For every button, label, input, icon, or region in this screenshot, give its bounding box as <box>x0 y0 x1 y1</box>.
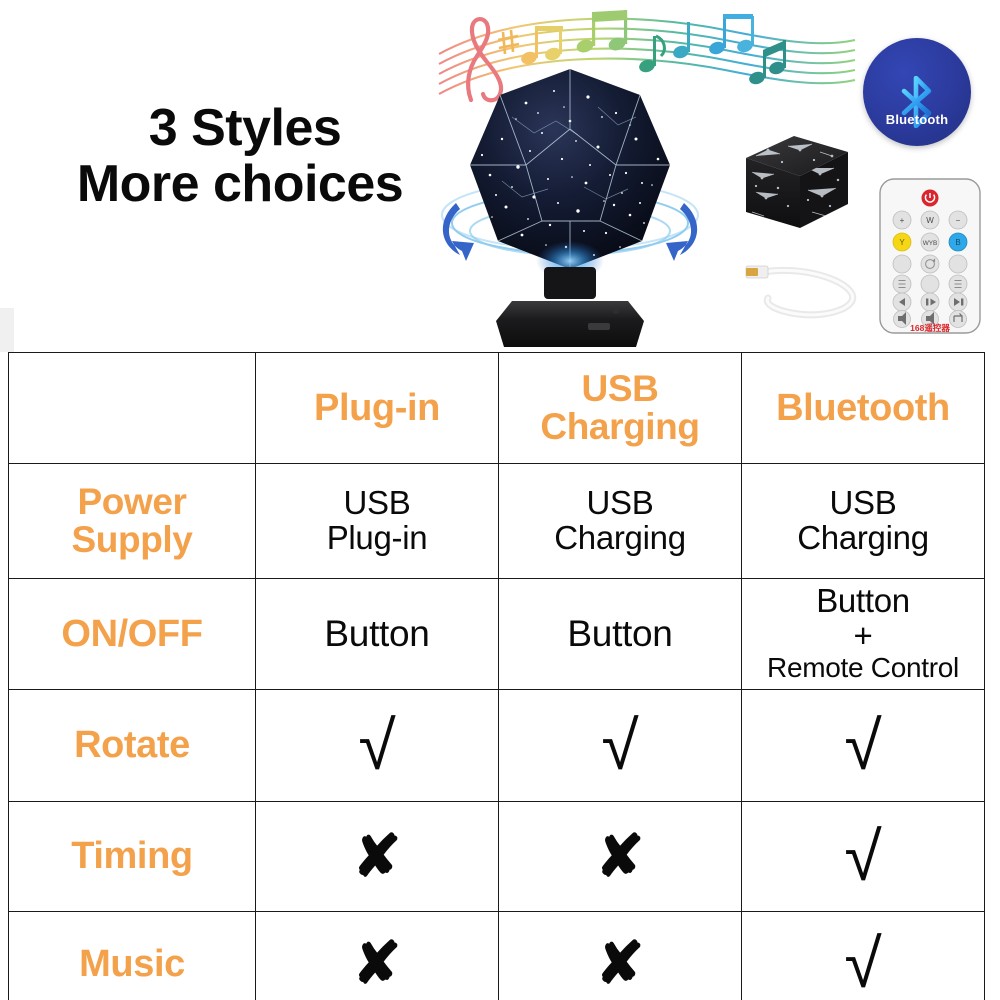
star-projector-lamp <box>430 55 710 355</box>
row-label-music: Music <box>9 912 256 1000</box>
cell-power-plugin: USB Plug-in <box>256 464 499 579</box>
table-row: ON/OFF Button Button Button + Remote Con… <box>9 579 985 690</box>
constellation-gift-box <box>738 128 856 238</box>
cell-music-bluetooth: √ <box>742 912 985 1000</box>
cell-onoff-plugin: Button <box>256 579 499 690</box>
cell-onoff-bluetooth: Button + Remote Control <box>742 579 985 690</box>
row-label-power-supply: Power Supply <box>9 464 256 579</box>
cell-music-usb: ✘ <box>499 912 742 1000</box>
cell-power-usb: USB Charging <box>499 464 742 579</box>
headline-line-2: More choices <box>40 156 440 212</box>
column-header-plugin: Plug-in <box>256 353 499 464</box>
cell-onoff-usb: Button <box>499 579 742 690</box>
table-row: Music ✘ ✘ √ <box>9 912 985 1000</box>
svg-text:B: B <box>955 238 960 247</box>
svg-text:Y: Y <box>899 238 905 247</box>
remote-model-label: 168遥控器 <box>910 323 950 333</box>
bluetooth-badge: Bluetooth <box>863 38 971 146</box>
usb-cable <box>740 248 870 328</box>
column-header-bluetooth: Bluetooth <box>742 353 985 464</box>
headline-line-1: 3 Styles <box>40 100 440 156</box>
svg-text:WYB: WYB <box>923 240 938 247</box>
infographic-root: 3 Styles More choices <box>0 0 1000 1000</box>
edge-band-artifact <box>0 308 14 352</box>
bluetooth-badge-label: Bluetooth <box>863 112 971 127</box>
svg-text:W: W <box>926 216 934 225</box>
row-label-timing: Timing <box>9 802 256 912</box>
cell-rotate-plugin: √ <box>256 690 499 802</box>
cell-power-bluetooth: USB Charging <box>742 464 985 579</box>
cell-timing-bluetooth: √ <box>742 802 985 912</box>
row-label-rotate: Rotate <box>9 690 256 802</box>
ir-remote-control[interactable]: +W− Y WYB B 168遥控器 <box>876 176 984 336</box>
column-header-usb-charging: USB Charging <box>499 353 742 464</box>
hero-section: 3 Styles More choices <box>0 0 1000 352</box>
cell-rotate-usb: √ <box>499 690 742 802</box>
cell-music-plugin: ✘ <box>256 912 499 1000</box>
headline: 3 Styles More choices <box>40 100 440 212</box>
cell-timing-plugin: ✘ <box>256 802 499 912</box>
comparison-table: Plug-in USB Charging Bluetooth Power Sup… <box>8 352 985 1000</box>
table-row: Timing ✘ ✘ √ <box>9 802 985 912</box>
row-label-onoff: ON/OFF <box>9 579 256 690</box>
cell-timing-usb: ✘ <box>499 802 742 912</box>
table-row: Power Supply USB Plug-in USB Charging <box>9 464 985 579</box>
table-row: Rotate √ √ √ <box>9 690 985 802</box>
table-header-row: Plug-in USB Charging Bluetooth <box>9 353 985 464</box>
cell-rotate-bluetooth: √ <box>742 690 985 802</box>
table-corner-cell <box>9 353 256 464</box>
svg-text:−: − <box>956 216 961 225</box>
svg-text:+: + <box>900 216 905 225</box>
